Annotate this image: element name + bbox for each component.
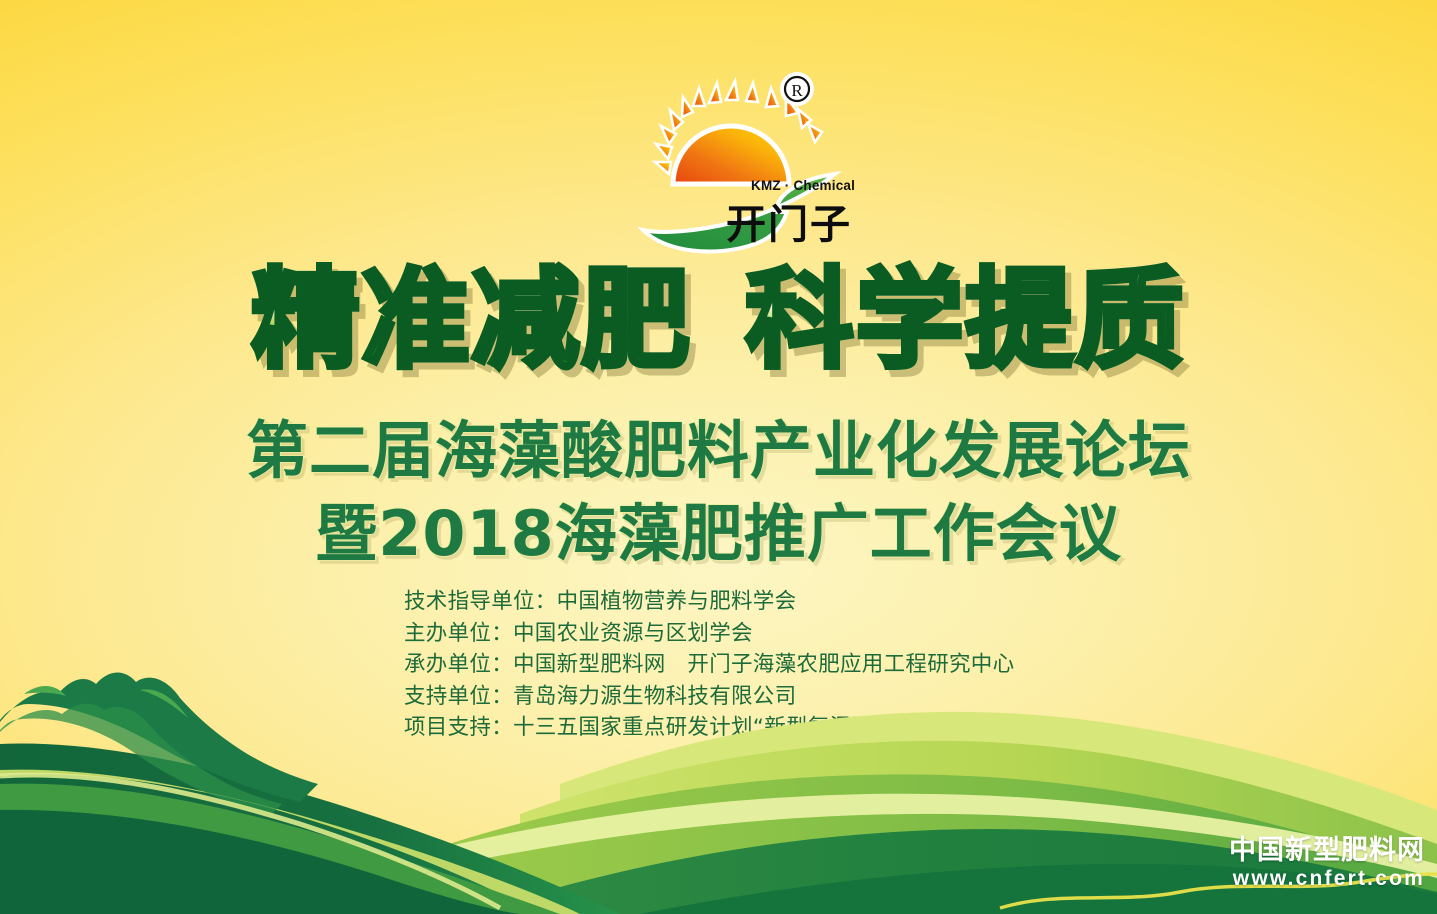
detail-line-technical-guidance: 技术指导单位：中国植物营养与肥料学会 [404,586,1144,618]
svg-text:R: R [791,81,803,100]
subtitle-line-2: 暨2018海藻肥推广工作会议 [0,483,1437,573]
logo-brand-chinese: 开门子 [726,192,852,250]
sun-dome-icon [673,126,789,184]
registered-trademark-icon: R [780,72,814,106]
headline-part-1: 精准减肥 [251,258,691,383]
page-headline: 精准减肥科学提质 [0,266,1437,376]
rolling-hills-icon [0,624,1437,914]
subtitle-line-1: 第二届海藻酸肥料产业化发展论坛 [0,400,1437,490]
promotional-banner: R KMZ · Chemical 开门子 精准减肥科学提质 第二届海藻酸肥料产业… [0,0,1437,914]
headline-part-2: 科学提质 [746,258,1186,383]
kmz-chemical-logo: R KMZ · Chemical 开门子 [625,62,850,257]
logo-brand-latin: KMZ · Chemical [751,178,855,193]
